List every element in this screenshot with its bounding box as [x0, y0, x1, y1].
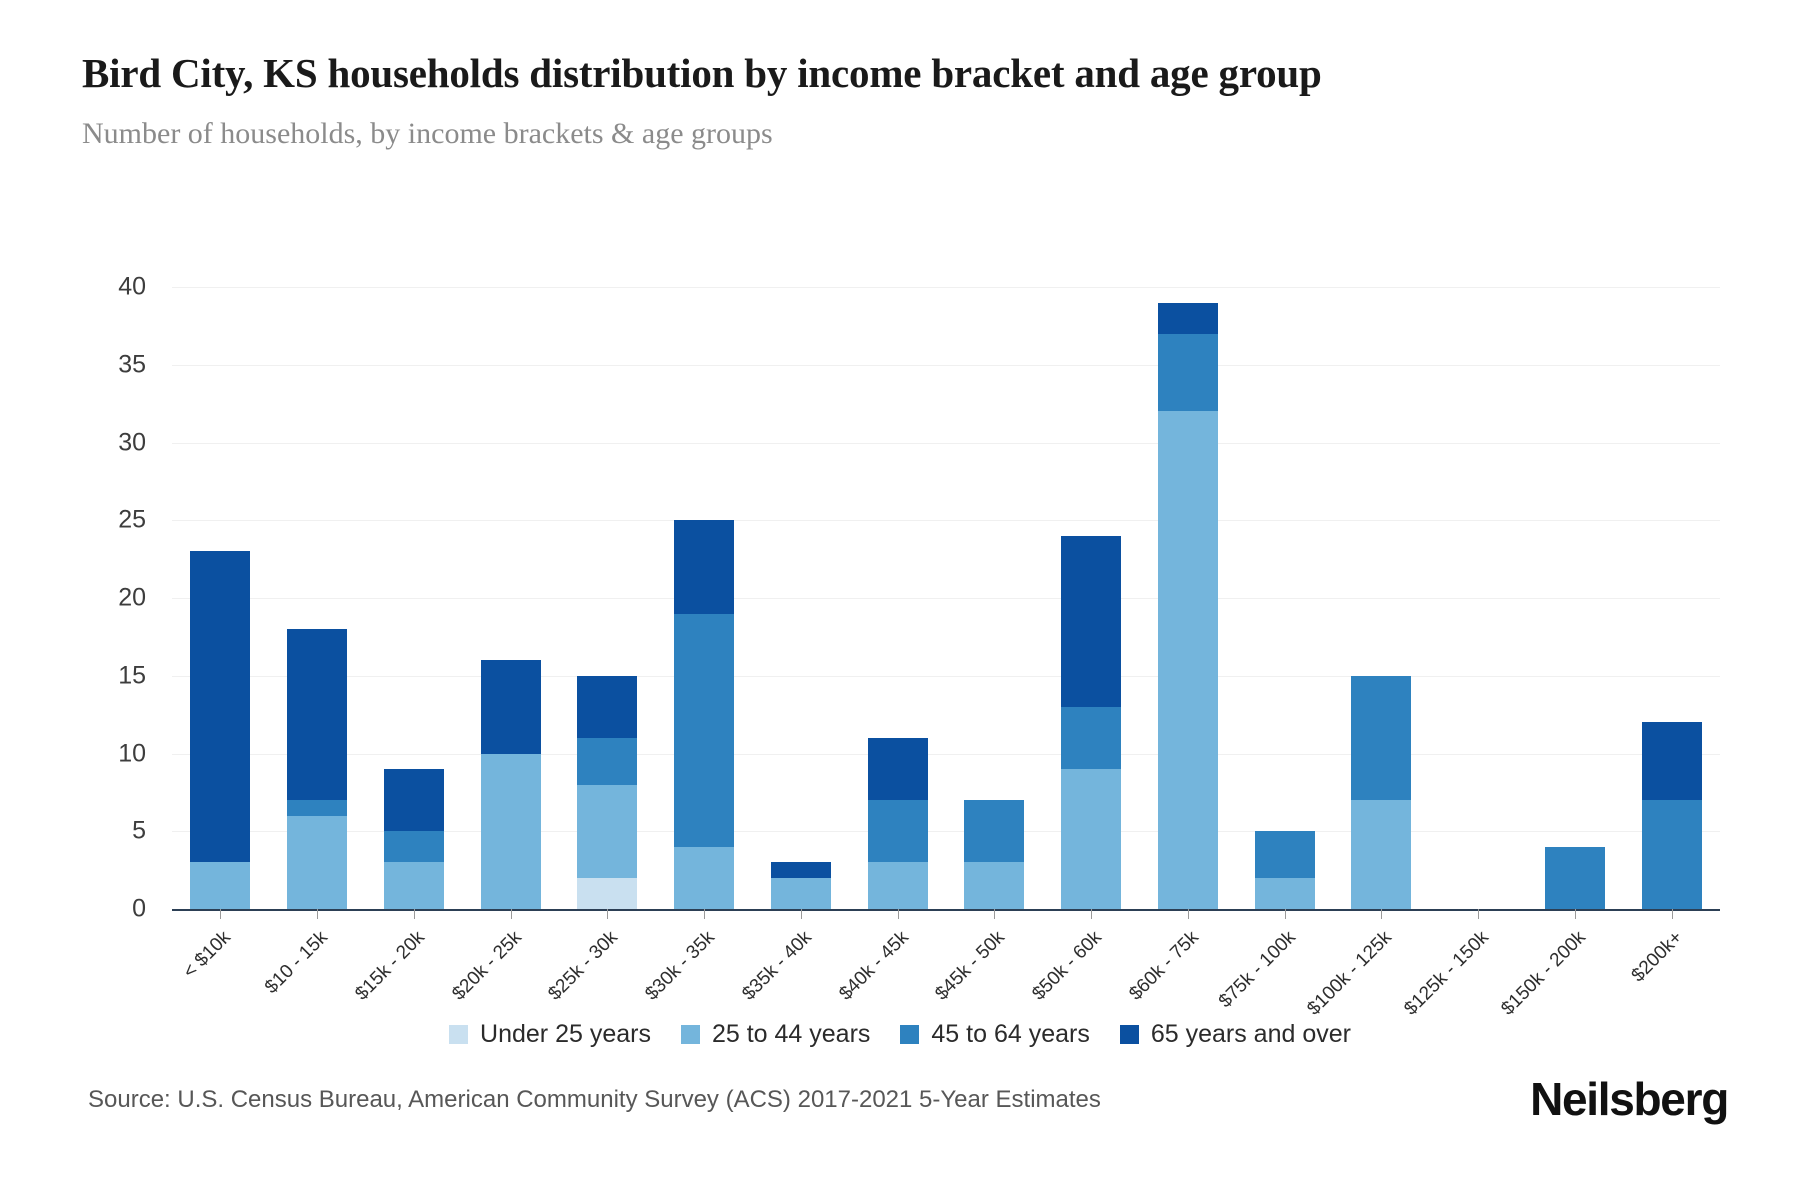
legend-label: Under 25 years	[480, 1020, 651, 1049]
legend-swatch-icon	[681, 1025, 700, 1044]
legend-label: 45 to 64 years	[931, 1020, 1089, 1049]
y-axis-tick-label: 40	[76, 273, 146, 302]
x-axis-tick-label: $20k - 25k	[362, 927, 526, 1091]
bar-segment[interactable]	[868, 862, 928, 909]
bar-segment[interactable]	[964, 800, 1024, 862]
x-axis-tick	[1478, 909, 1479, 919]
bar-segment[interactable]	[287, 816, 347, 909]
bar-column[interactable]	[1430, 287, 1527, 909]
x-axis-tick	[801, 909, 802, 919]
bar-stack[interactable]	[1642, 722, 1702, 909]
bar-stack[interactable]	[964, 800, 1024, 909]
bar-column[interactable]	[1623, 287, 1720, 909]
x-axis-tick-label: $35k - 40k	[652, 927, 816, 1091]
bar-segment[interactable]	[674, 614, 734, 847]
bar-segment[interactable]	[577, 785, 637, 878]
chart-header: Bird City, KS households distribution by…	[82, 48, 1642, 151]
bar-segment[interactable]	[1545, 847, 1605, 909]
legend-item[interactable]: 45 to 64 years	[900, 1020, 1089, 1049]
x-axis-tick	[1381, 909, 1382, 919]
bar-segment[interactable]	[1158, 411, 1218, 909]
bar-column[interactable]	[1043, 287, 1140, 909]
bar-segment[interactable]	[674, 847, 734, 909]
x-axis-tick-label: $75k - 100k	[1136, 927, 1300, 1091]
x-axis-tick-label: $40k - 45k	[749, 927, 913, 1091]
x-axis-line	[172, 909, 1720, 911]
gridline	[172, 909, 1720, 910]
bar-column[interactable]	[1333, 287, 1430, 909]
bar-stack[interactable]	[674, 520, 734, 909]
bar-stack[interactable]	[287, 629, 347, 909]
bar-stack[interactable]	[1061, 536, 1121, 909]
bar-segment[interactable]	[868, 738, 928, 800]
bar-stack[interactable]	[481, 660, 541, 909]
x-axis-tick	[1672, 909, 1673, 919]
bar-column[interactable]	[1527, 287, 1624, 909]
x-axis-tick	[317, 909, 318, 919]
bar-segment[interactable]	[964, 862, 1024, 909]
bar-segment[interactable]	[287, 800, 347, 816]
chart-subtitle: Number of households, by income brackets…	[82, 117, 1642, 151]
bar-column[interactable]	[946, 287, 1043, 909]
bar-segment[interactable]	[771, 862, 831, 878]
bar-segment[interactable]	[1255, 831, 1315, 878]
x-axis-tick-label: $100k - 125k	[1233, 927, 1397, 1091]
x-axis-tick-label: $50k - 60k	[943, 927, 1107, 1091]
bar-segment[interactable]	[1158, 334, 1218, 412]
bar-segment[interactable]	[1642, 800, 1702, 909]
bar-stack[interactable]	[1351, 676, 1411, 909]
bar-segment[interactable]	[481, 660, 541, 753]
bar-segment[interactable]	[577, 676, 637, 738]
legend-item[interactable]: 25 to 44 years	[681, 1020, 870, 1049]
x-axis-tick	[607, 909, 608, 919]
x-axis-tick	[220, 909, 221, 919]
bar-column[interactable]	[269, 287, 366, 909]
bar-column[interactable]	[462, 287, 559, 909]
x-axis-tick	[1091, 909, 1092, 919]
source-note: Source: U.S. Census Bureau, American Com…	[88, 1086, 1101, 1114]
bar-column[interactable]	[172, 287, 269, 909]
bar-stack[interactable]	[868, 738, 928, 909]
bar-segment[interactable]	[1351, 676, 1411, 800]
legend-label: 65 years and over	[1151, 1020, 1351, 1049]
bar-segment[interactable]	[287, 629, 347, 800]
x-axis-tick-label: $150k - 200k	[1426, 927, 1590, 1091]
bar-column[interactable]	[1140, 287, 1237, 909]
chart-legend: Under 25 years25 to 44 years45 to 64 yea…	[0, 1020, 1800, 1049]
bar-segment[interactable]	[1061, 707, 1121, 769]
x-axis-tick-label: $10 - 15k	[169, 927, 333, 1091]
bar-segment[interactable]	[1642, 722, 1702, 800]
page-title: Bird City, KS households distribution by…	[82, 48, 1572, 99]
y-axis-tick-label: 30	[76, 428, 146, 457]
bar-segment[interactable]	[190, 862, 250, 909]
y-axis-tick-label: 0	[76, 895, 146, 924]
bar-segment[interactable]	[481, 754, 541, 910]
bar-segment[interactable]	[384, 862, 444, 909]
x-axis-tick-label: $125k - 150k	[1330, 927, 1494, 1091]
bar-stack[interactable]	[190, 551, 250, 909]
bar-series-group	[172, 287, 1720, 909]
bar-segment[interactable]	[1061, 769, 1121, 909]
brand-logo: Neilsberg	[1530, 1072, 1728, 1126]
bar-column[interactable]	[849, 287, 946, 909]
bar-segment[interactable]	[384, 769, 444, 831]
x-axis-tick-label: < $10k	[72, 927, 236, 1091]
bar-column[interactable]	[656, 287, 753, 909]
x-axis-tick	[1188, 909, 1189, 919]
x-axis-tick	[704, 909, 705, 919]
y-axis-tick-label: 25	[76, 506, 146, 535]
x-axis-tick-label: $60k - 75k	[1039, 927, 1203, 1091]
legend-item[interactable]: Under 25 years	[449, 1020, 651, 1049]
y-axis-tick-label: 5	[76, 817, 146, 846]
x-axis-tick-label: $25k - 30k	[459, 927, 623, 1091]
legend-swatch-icon	[900, 1025, 919, 1044]
y-axis-tick-label: 15	[76, 661, 146, 690]
bar-segment[interactable]	[868, 800, 928, 862]
bar-segment[interactable]	[577, 738, 637, 785]
x-axis-tick	[1285, 909, 1286, 919]
x-axis-tick-label: $200k+	[1523, 927, 1687, 1091]
bar-column[interactable]	[559, 287, 656, 909]
bar-segment[interactable]	[1158, 303, 1218, 334]
bar-column[interactable]	[366, 287, 463, 909]
legend-label: 25 to 44 years	[712, 1020, 870, 1049]
bar-stack[interactable]	[771, 862, 831, 909]
bar-segment[interactable]	[384, 831, 444, 862]
y-axis-tick-label: 10	[76, 739, 146, 768]
legend-item[interactable]: 65 years and over	[1120, 1020, 1351, 1049]
bar-column[interactable]	[753, 287, 850, 909]
x-axis-tick	[994, 909, 995, 919]
y-axis-tick-label: 20	[76, 584, 146, 613]
bar-segment[interactable]	[1351, 800, 1411, 909]
bar-column[interactable]	[1236, 287, 1333, 909]
bar-stack[interactable]	[384, 769, 444, 909]
y-axis-tick-label: 35	[76, 350, 146, 379]
x-axis-tick	[1575, 909, 1576, 919]
bar-stack[interactable]	[577, 676, 637, 909]
legend-swatch-icon	[449, 1025, 468, 1044]
x-axis-tick-label: $15k - 20k	[265, 927, 429, 1091]
legend-swatch-icon	[1120, 1025, 1139, 1044]
x-axis-tick-label: $30k - 35k	[556, 927, 720, 1091]
x-axis-tick-label: $45k - 50k	[846, 927, 1010, 1091]
bar-segment[interactable]	[577, 878, 637, 909]
bar-segment[interactable]	[1255, 878, 1315, 909]
x-axis-tick	[414, 909, 415, 919]
bar-segment[interactable]	[674, 520, 734, 613]
bar-stack[interactable]	[1255, 831, 1315, 909]
bar-stack[interactable]	[1545, 847, 1605, 909]
plot-area: < $10k$10 - 15k$15k - 20k$20k - 25k$25k …	[172, 287, 1720, 909]
x-axis-tick	[898, 909, 899, 919]
bar-segment[interactable]	[1061, 536, 1121, 707]
bar-segment[interactable]	[771, 878, 831, 909]
bar-stack[interactable]	[1158, 303, 1218, 909]
x-axis-tick	[511, 909, 512, 919]
bar-segment[interactable]	[190, 551, 250, 862]
